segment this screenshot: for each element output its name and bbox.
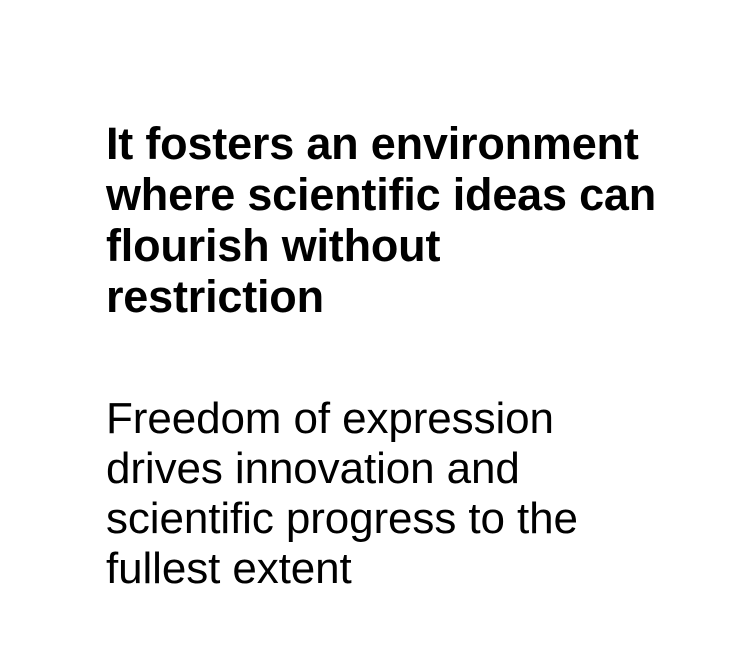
slide-headline: It fosters an environment where scientif… [106, 118, 666, 322]
slide-subheadline: Freedom of expression drives innovation … [106, 394, 666, 594]
slide-canvas: It fosters an environment where scientif… [0, 0, 750, 650]
